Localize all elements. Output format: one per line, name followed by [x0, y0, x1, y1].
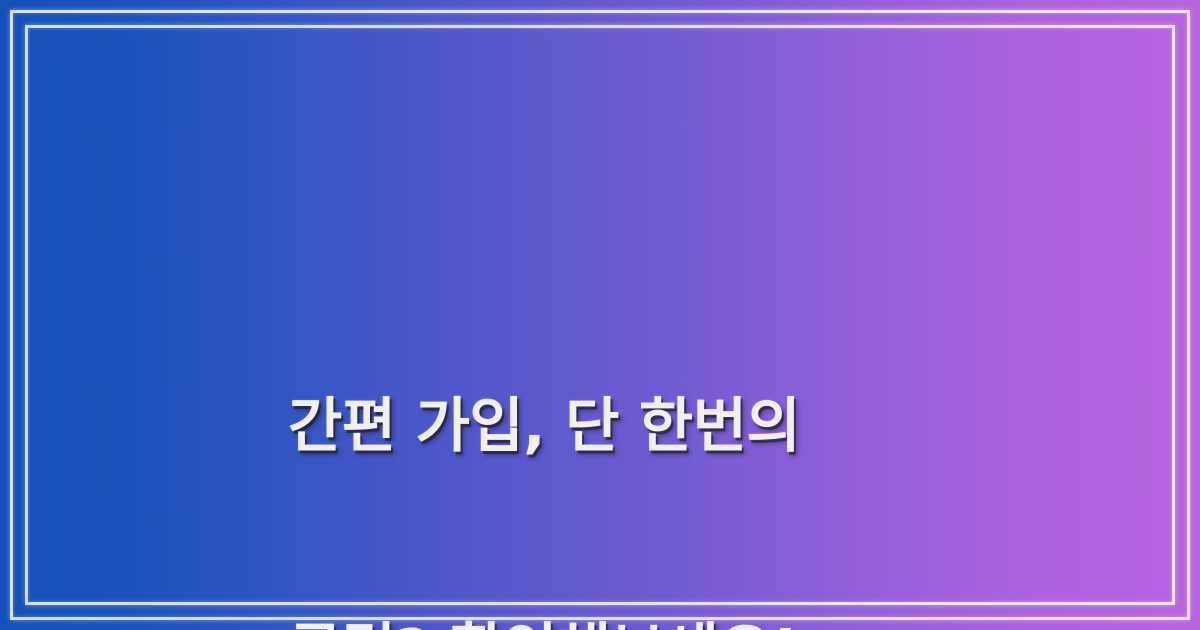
headline-line-2: 클릭? 확인해보세요!: [288, 613, 1008, 630]
banner-headline: 간편 가입, 단 한번의 클릭? 확인해보세요!: [288, 238, 1008, 630]
headline-line-1: 간편 가입, 단 한번의: [288, 388, 1008, 463]
promo-banner: 간편 가입, 단 한번의 클릭? 확인해보세요!: [0, 0, 1200, 630]
